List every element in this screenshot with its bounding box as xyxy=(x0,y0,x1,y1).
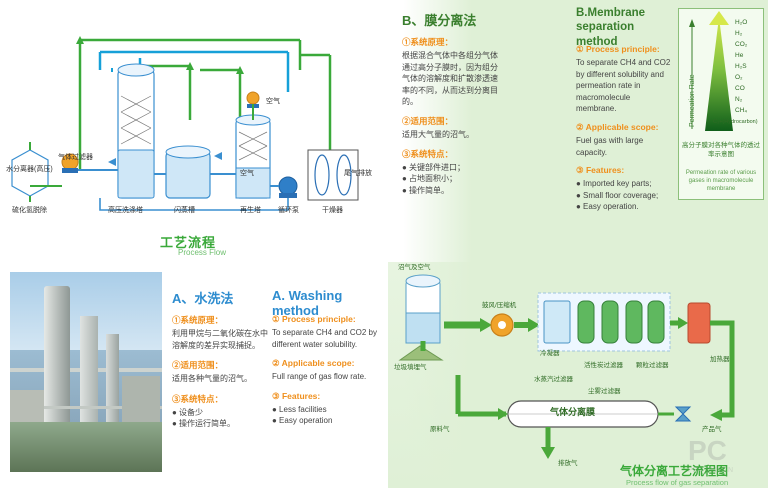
washing-cn-head-3: ③系统特点： xyxy=(172,393,268,405)
flow-label: 空气 xyxy=(240,168,254,178)
flow-label: 空气 xyxy=(266,96,280,106)
flow-label: 循环泵 xyxy=(278,205,299,215)
process-flow-svg xyxy=(0,0,388,265)
process-flow-diagram xyxy=(0,0,388,265)
left-panel: 水分离器(高压) 气体过滤器 硫化氢脱除 高压洗涤塔 闪蒸槽 再生塔 循环泵 干… xyxy=(0,0,388,488)
gas-label-co: CO xyxy=(735,85,745,92)
gas-separation-caption-en: Process flow of gas separation xyxy=(626,478,728,487)
gas-label-h2: H₂ xyxy=(735,30,742,37)
gas-label-co2: CO₂ xyxy=(735,41,747,48)
membrane-en-column: ① Process principle: To separate CH4 and… xyxy=(576,44,672,220)
gs-label-landfill-gas: 垃圾填埋气 xyxy=(394,361,427,371)
washing-en-head-2: ② Applicable scope: xyxy=(272,358,382,369)
gs-label-mist-filter: 尘雾过滤器 xyxy=(588,385,621,395)
gas-label-o2: O₂ xyxy=(735,74,743,81)
gs-label-membrane: 气体分离膜 xyxy=(550,405,595,418)
gas-label-c3plus: C₃+(Hydrocarbon) xyxy=(713,119,758,125)
membrane-en-body-1: To separate CH4 and CO2 by different sol… xyxy=(576,57,672,115)
membrane-cn-body-1: 根据混合气体中各组分气体通过高分子膜时，因为组分气体的溶解度和扩散渗透速率的不同… xyxy=(402,50,498,108)
gas-label-h2s: H₂S xyxy=(735,63,747,70)
washing-cn-body-3: ● 设备少 ● 操作运行简单。 xyxy=(172,407,268,430)
gs-label-condenser: 冷凝器 xyxy=(540,347,560,357)
gs-label-exhaust-gas: 排放气 xyxy=(558,457,578,467)
washing-en-body-1: To separate CH4 and CO2 by different wat… xyxy=(272,327,382,350)
poster-page: 水分离器(高压) 气体过滤器 硫化氢脱除 高压洗涤塔 闪蒸槽 再生塔 循环泵 干… xyxy=(0,0,768,488)
flow-label: 尾气排放 xyxy=(344,168,372,178)
membrane-en-head-2: ② Applicable scope: xyxy=(576,122,672,133)
washing-cn-head-1: ①系统原理： xyxy=(172,314,268,326)
gs-label-biogas-air: 沼气及空气 xyxy=(398,261,431,271)
flow-label: 水分离器(高压) xyxy=(6,164,53,174)
washing-en-column: ① Process principle: To separate CH4 and… xyxy=(272,314,382,435)
svg-text:PC: PC xyxy=(688,435,727,466)
photo-tower-1 xyxy=(44,286,70,436)
membrane-cn-head-3: ③系统特点： xyxy=(402,148,498,160)
flow-label: 干燥器 xyxy=(322,205,343,215)
photo-tower-2 xyxy=(80,316,98,436)
washing-title-cn: A、水洗法 xyxy=(172,288,233,307)
washing-cn-head-2: ②适用范围： xyxy=(172,359,268,371)
permeation-caption-cn: 高分子膜对各种气体的透过率示意图 xyxy=(681,141,761,159)
gas-label-he: He xyxy=(735,52,743,59)
process-flow-caption-en: Process Flow xyxy=(178,248,226,257)
washing-cn-column: ①系统原理： 利用甲烷与二氧化碳在水中溶解度的差异实现捕捉。 ②适用范围： 适用… xyxy=(172,314,268,438)
washing-en-body-2: Full range of gas flow rate. xyxy=(272,371,382,383)
membrane-en-head-1: ① Process principle: xyxy=(576,44,672,55)
gas-label-h2o: H₂O xyxy=(735,19,747,26)
permeation-axis-label: Permeation Rate xyxy=(689,74,696,127)
gas-label-n2: N₂ xyxy=(735,96,742,103)
membrane-cn-body-3: ● 关键部件进口； ● 占地面积小； ● 操作简单。 xyxy=(402,162,498,197)
gs-label-blower: 鼓风/压缩机 xyxy=(482,299,516,309)
membrane-permeation-chart: Permeation Rate H₂O H₂ CO₂ He H₂S O₂ CO … xyxy=(678,8,764,200)
washing-en-head-1: ① Process principle: xyxy=(272,314,382,325)
membrane-cn-column: ①系统原理： 根据混合气体中各组分气体通过高分子膜时，因为组分气体的溶解度和扩散… xyxy=(402,36,498,203)
membrane-en-head-3: ③ Features: xyxy=(576,165,672,176)
membrane-en-body-3: ● Imported key parts; ● Small floor cove… xyxy=(576,178,672,213)
membrane-title-en: B.Membrane separation method xyxy=(576,6,666,49)
washing-cn-body-2: 适用各种气量的沼气。 xyxy=(172,373,268,385)
photo-ground xyxy=(10,422,162,472)
photo-tower-3 xyxy=(106,334,119,434)
washing-en-body-3: ● Less facilities ● Easy operation xyxy=(272,404,382,427)
right-panel: B、膜分离法 B.Membrane separation method ①系统原… xyxy=(388,0,768,488)
gs-label-particle-filter: 颗粒过滤器 xyxy=(636,359,669,369)
membrane-cn-head-1: ①系统原理： xyxy=(402,36,498,48)
gas-label-ch4: CH₄ xyxy=(735,107,747,114)
plant-photo xyxy=(10,272,162,472)
membrane-en-body-2: Fuel gas with large capacity. xyxy=(576,135,672,158)
washing-en-head-3: ③ Features: xyxy=(272,391,382,402)
washing-cn-body-1: 利用甲烷与二氧化碳在水中溶解度的差异实现捕捉。 xyxy=(172,328,268,351)
permeation-caption-en: Permeation rate of various gases in macr… xyxy=(681,169,761,193)
membrane-cn-head-2: ②适用范围： xyxy=(402,115,498,127)
membrane-cn-body-2: 适用大气量的沼气。 xyxy=(402,129,498,141)
gs-label-feed-gas: 原料气 xyxy=(430,423,450,433)
gs-label-carbon-filter: 活性炭过滤器 xyxy=(584,359,623,369)
gs-label-heater: 加热器 xyxy=(710,353,730,363)
flow-label: 再生塔 xyxy=(240,205,261,215)
flow-label: 高压洗涤塔 xyxy=(108,205,143,215)
flow-label: 闪蒸槽 xyxy=(174,205,195,215)
membrane-title-cn: B、膜分离法 xyxy=(402,10,476,29)
gs-label-steam-filter: 水蒸汽过滤器 xyxy=(534,373,573,383)
watermark-logo: PC PRO-CMS.CN xyxy=(688,432,762,476)
svg-text:PRO-CMS.CN: PRO-CMS.CN xyxy=(688,467,733,474)
logo-icon: PC PRO-CMS.CN xyxy=(688,432,762,476)
flow-label: 硫化氢脱除 xyxy=(12,205,47,215)
flow-label: 气体过滤器 xyxy=(58,152,93,162)
